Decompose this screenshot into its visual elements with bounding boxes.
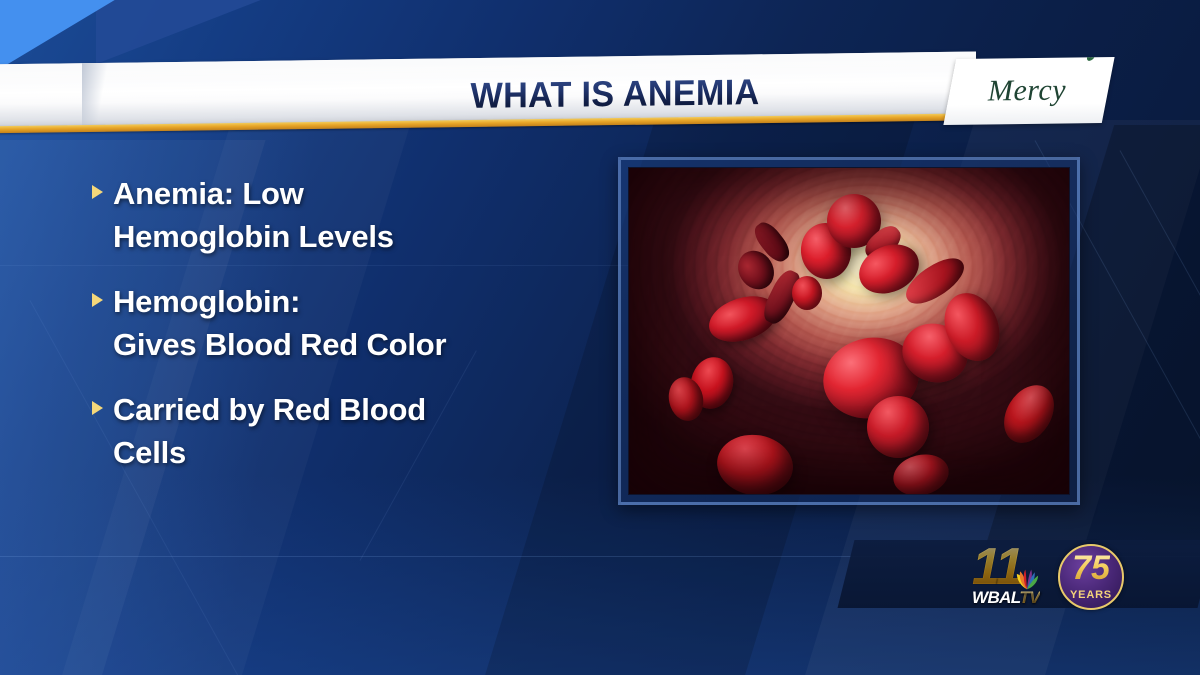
blood-cell <box>792 276 822 310</box>
list-item: Carried by Red Blood Cells <box>92 388 592 474</box>
bullet-text-anemia: Anemia: Low Hemoglobin Levels <box>113 172 394 258</box>
triangle-bullet-icon <box>92 401 103 415</box>
corner-accent-blue <box>0 0 118 70</box>
blood-cell <box>867 396 929 458</box>
anniversary-number: 75 <box>1072 549 1110 587</box>
leaf-icon <box>1085 57 1096 63</box>
page-title: WHAT IS ANEMIA <box>401 71 829 117</box>
sponsor-name: Mercy <box>988 74 1070 109</box>
callsign-text: WBAL <box>972 588 1019 607</box>
triangle-bullet-icon <box>92 293 103 307</box>
triangle-bullet-icon <box>92 185 103 199</box>
bullet-list: Anemia: Low Hemoglobin Levels Hemoglobin… <box>92 172 592 496</box>
list-item: Anemia: Low Hemoglobin Levels <box>92 172 592 258</box>
station-logo[interactable]: 11 WBALTV 75 YEARS <box>972 542 1124 608</box>
station-callsign: WBALTV <box>972 588 1040 608</box>
corner-accent-navy <box>96 0 266 64</box>
blood-cells-image <box>628 167 1070 495</box>
bullet-text-carried: Carried by Red Blood Cells <box>113 388 426 474</box>
sponsor-logo-panel[interactable]: Mercy <box>943 57 1114 125</box>
broadcast-slide: WHAT IS ANEMIA Mercy Anemia: Low Hemoglo… <box>0 0 1200 675</box>
anniversary-badge: 75 YEARS <box>1058 544 1124 610</box>
callsign-suffix: TV <box>1019 588 1040 607</box>
bullet-text-hemoglobin: Hemoglobin: Gives Blood Red Color <box>113 280 446 366</box>
list-item: Hemoglobin: Gives Blood Red Color <box>92 280 592 366</box>
photo-frame <box>618 157 1080 505</box>
sponsor-logo-inner: Mercy <box>950 57 1108 125</box>
anniversary-label: YEARS <box>1070 589 1112 601</box>
